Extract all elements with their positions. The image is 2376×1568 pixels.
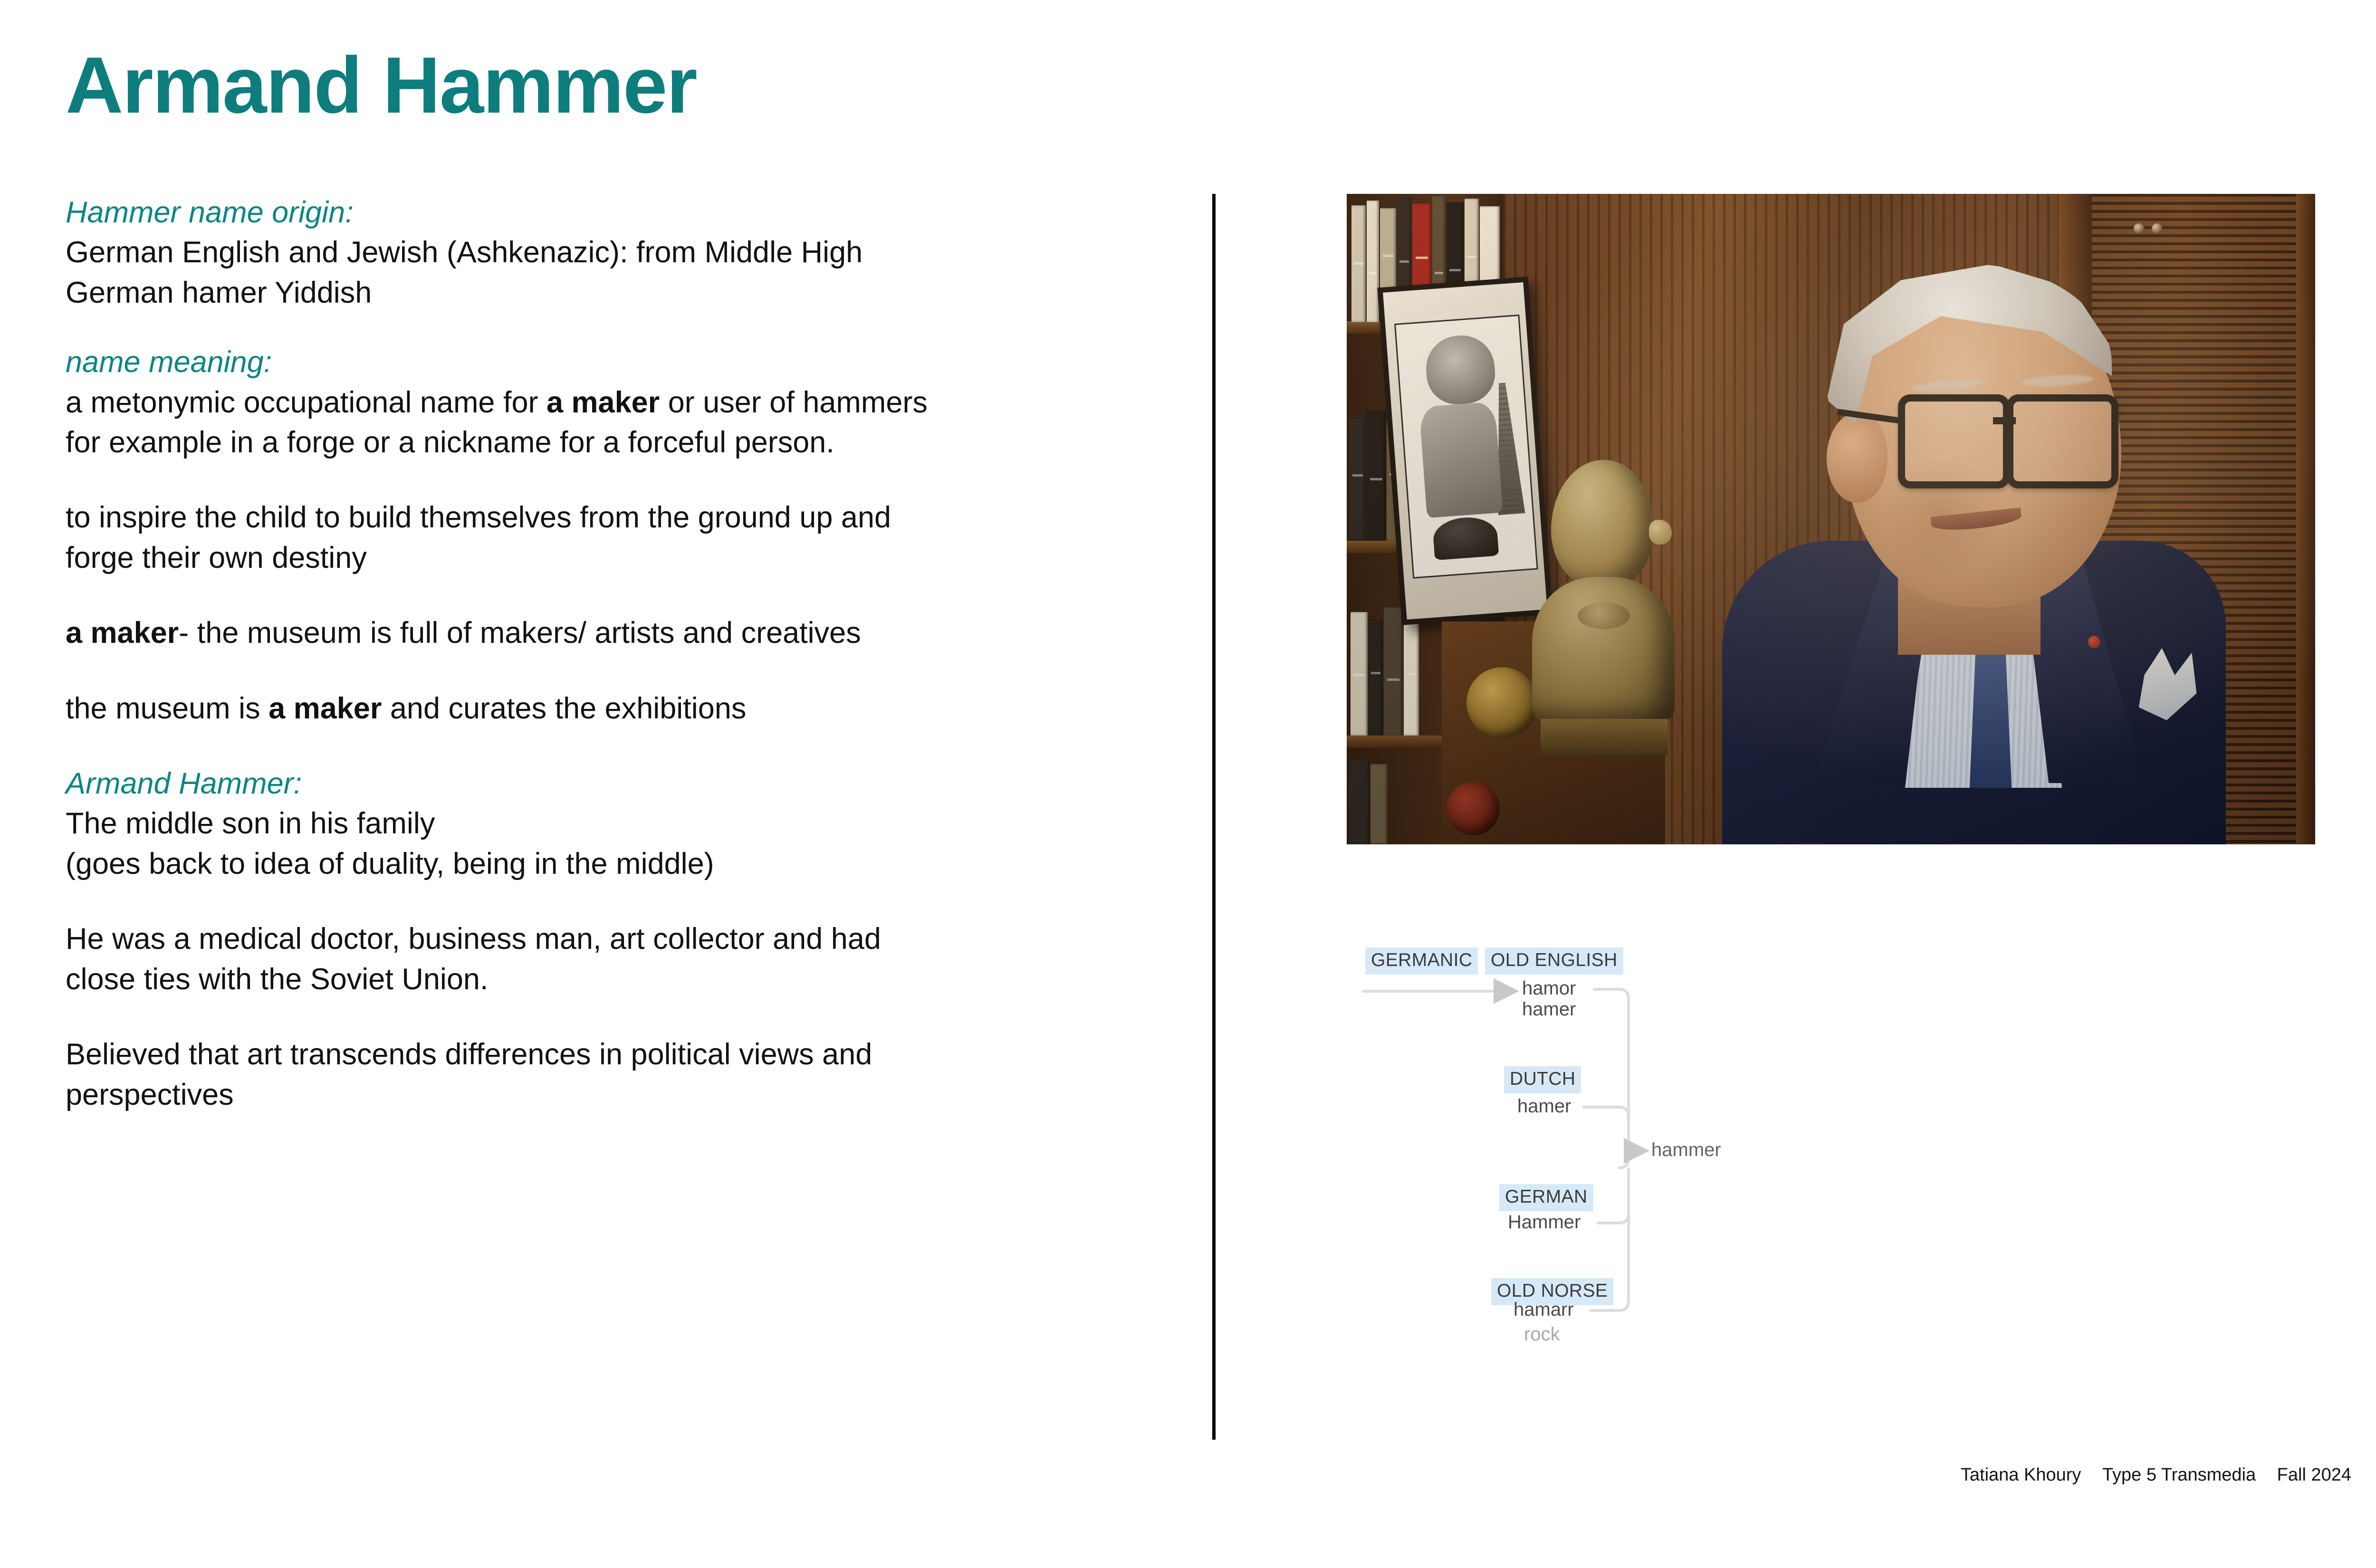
section-armand-hammer: Armand Hammer: The middle son in his fam… (66, 764, 1173, 884)
bust-shoulders (1532, 577, 1675, 724)
section-line: a maker- the museum is full of makers/ a… (66, 613, 1173, 653)
man-figure (1755, 256, 2315, 844)
section-heading: Hammer name origin: (66, 192, 1173, 232)
book-spine (1369, 620, 1383, 736)
etymology-connectors (1357, 946, 2046, 1387)
ety-word-hammer-de: Hammer (1508, 1212, 1581, 1233)
ety-tag-old-english: OLD ENGLISH (1485, 947, 1623, 975)
book-spine (1384, 607, 1403, 736)
ety-word-hammer-result: hammer (1651, 1139, 1721, 1161)
section-line: perspectives (66, 1075, 1173, 1115)
ety-word-hamer-oe: hamer (1522, 999, 1576, 1020)
portrait-photo (1347, 194, 2315, 844)
section-name-meaning: name meaning: a metonymic occupational n… (66, 342, 1173, 462)
ety-gloss-rock: rock (1524, 1324, 1560, 1345)
section-line: The middle son in his family (66, 803, 1173, 843)
ety-tag-dutch: DUTCH (1504, 1066, 1581, 1093)
ety-word-hamor: hamor (1522, 978, 1576, 999)
spacer (66, 578, 1173, 613)
lapel-pin (2088, 636, 2100, 648)
book-spine (1350, 417, 1366, 541)
section-line: close ties with the Soviet Union. (66, 959, 1173, 999)
section-line: a metonymic occupational name for a make… (66, 382, 1173, 422)
ety-word-hamer-dutch: hamer (1517, 1096, 1571, 1117)
ety-word-hamarr: hamarr (1514, 1299, 1574, 1320)
bust-head (1551, 460, 1653, 588)
bust-bowtie (1578, 602, 1630, 629)
section-line: He was a medical doctor, business man, a… (66, 919, 1173, 959)
section-line: to inspire the child to build themselves… (66, 497, 1173, 537)
bronze-bust (1532, 460, 1675, 755)
page-title: Armand Hammer (66, 45, 697, 125)
footer-credit: Tatiana Khoury Type 5 Transmedia Fall 20… (1961, 1465, 2351, 1485)
book-spine (1349, 759, 1370, 844)
section-line: Believed that art transcends differences… (66, 1034, 1173, 1074)
shutter-knob (2134, 223, 2144, 234)
ety-tag-german: GERMAN (1499, 1184, 1593, 1211)
section-inspire: to inspire the child to build themselves… (66, 497, 1173, 578)
spacer (66, 884, 1173, 919)
etymology-diagram: GERMANIC OLD ENGLISH DUTCH GERMAN OLD NO… (1357, 946, 2046, 1387)
footer-course: Type 5 Transmedia (2102, 1465, 2256, 1485)
shutter-knob (2152, 223, 2162, 234)
spacer (66, 313, 1173, 342)
column-divider (1212, 194, 1216, 1440)
section-line: forge their own destiny (66, 538, 1173, 578)
bust-base (1541, 719, 1668, 755)
framed-caricature (1377, 277, 1552, 625)
section-line: German hamer Yiddish (66, 273, 1173, 313)
red-medallion (1447, 782, 1500, 835)
ear (1827, 412, 1887, 503)
section-line: for example in a forge or a nickname for… (66, 422, 1173, 462)
glasses-lens-left (1898, 394, 2010, 488)
glasses-lens-right (2006, 394, 2118, 488)
ety-tag-germanic: GERMANIC (1365, 947, 1478, 975)
footer-author: Tatiana Khoury (1961, 1465, 2081, 1485)
eyeglasses (1898, 394, 2121, 489)
photo-image (1347, 194, 2315, 844)
bronze-medallion (1466, 667, 1538, 738)
book-spine (1351, 612, 1368, 736)
section-heading: Armand Hammer: (66, 764, 1173, 803)
spacer (66, 999, 1173, 1034)
spacer (66, 728, 1173, 764)
bust-nose (1649, 520, 1672, 545)
book-spine (1404, 616, 1419, 736)
section-line: the museum is a maker and curates the ex… (66, 688, 1173, 728)
section-heading: name meaning: (66, 342, 1173, 382)
section-line: (goes back to idea of duality, being in … (66, 844, 1173, 884)
section-biography: He was a medical doctor, business man, a… (66, 919, 1173, 999)
footer-term: Fall 2024 (2277, 1465, 2351, 1485)
caricature-coal-pile (1432, 516, 1499, 561)
caricature-head (1424, 333, 1497, 406)
section-name-origin: Hammer name origin: German English and J… (66, 192, 1173, 313)
section-belief: Believed that art transcends differences… (66, 1034, 1173, 1115)
book-spine (1351, 205, 1366, 322)
book-spine (1367, 411, 1386, 541)
glasses-bridge (1993, 417, 2016, 424)
spacer (66, 653, 1173, 688)
section-museum-curates: the museum is a maker and curates the ex… (66, 688, 1173, 728)
caricature-drawing (1394, 315, 1538, 579)
book-spine (1370, 764, 1388, 844)
text-column: Hammer name origin: German English and J… (66, 192, 1173, 1115)
spacer (66, 462, 1173, 497)
caricature-body (1419, 402, 1503, 518)
section-line: German English and Jewish (Ashkenazic): … (66, 232, 1173, 272)
slide-canvas: Armand Hammer Hammer name origin: German… (0, 0, 2376, 1568)
book-spine (1367, 201, 1379, 322)
section-maker-museum: a maker- the museum is full of makers/ a… (66, 613, 1173, 653)
